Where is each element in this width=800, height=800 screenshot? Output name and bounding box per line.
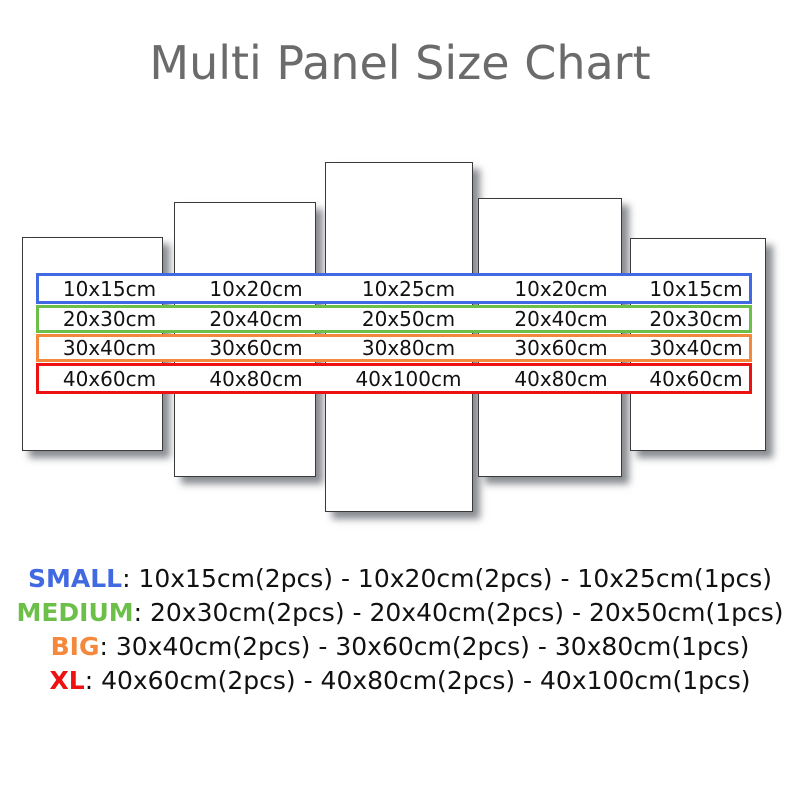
legend-separator: : [122,564,138,593]
size-label: 30x40cm [637,338,755,358]
size-label: 10x20cm [485,279,637,299]
size-band-medium: 20x30cm20x40cm20x50cm20x40cm20x30cm [36,305,752,333]
size-label: 20x30cm [637,309,755,329]
size-label: 30x40cm [39,338,180,358]
legend-row-medium: MEDIUM: 20x30cm(2pcs) - 20x40cm(2pcs) - … [0,596,800,630]
size-band-xl: 40x60cm40x80cm40x100cm40x80cm40x60cm [36,363,752,394]
size-label: 10x25cm [332,279,485,299]
size-band-layer: 10x15cm10x20cm10x25cm10x20cm10x15cm20x30… [0,0,800,560]
legend-details: 30x40cm(2pcs) - 30x60cm(2pcs) - 30x80cm(… [116,632,750,661]
size-label: 30x60cm [180,338,332,358]
size-label: 20x30cm [39,309,180,329]
size-label: 10x15cm [637,279,755,299]
size-band-big: 30x40cm30x60cm30x80cm30x60cm30x40cm [36,334,752,362]
size-band-small: 10x15cm10x20cm10x25cm10x20cm10x15cm [36,273,752,304]
size-label: 30x60cm [485,338,637,358]
legend-row-xl: XL: 40x60cm(2pcs) - 40x80cm(2pcs) - 40x1… [0,664,800,698]
legend-details: 10x15cm(2pcs) - 10x20cm(2pcs) - 10x25cm(… [138,564,772,593]
size-label: 40x100cm [332,369,485,389]
legend-details: 20x30cm(2pcs) - 20x40cm(2pcs) - 20x50cm(… [150,598,784,627]
legend-tier-label: XL [49,666,84,695]
size-label: 30x80cm [332,338,485,358]
legend-separator: : [134,598,150,627]
legend-row-big: BIG: 30x40cm(2pcs) - 30x60cm(2pcs) - 30x… [0,630,800,664]
size-label: 20x40cm [485,309,637,329]
size-label: 40x80cm [485,369,637,389]
size-label: 10x15cm [39,279,180,299]
legend-details: 40x60cm(2pcs) - 40x80cm(2pcs) - 40x100cm… [101,666,750,695]
legend-row-small: SMALL: 10x15cm(2pcs) - 10x20cm(2pcs) - 1… [0,562,800,596]
legend-tier-label: SMALL [28,564,122,593]
size-label: 40x60cm [39,369,180,389]
legend: SMALL: 10x15cm(2pcs) - 10x20cm(2pcs) - 1… [0,562,800,698]
size-label: 20x50cm [332,309,485,329]
size-label: 40x80cm [180,369,332,389]
size-label: 40x60cm [637,369,755,389]
legend-tier-label: BIG [51,632,100,661]
legend-separator: : [99,632,115,661]
legend-tier-label: MEDIUM [16,598,133,627]
legend-separator: : [85,666,101,695]
size-label: 20x40cm [180,309,332,329]
size-label: 10x20cm [180,279,332,299]
